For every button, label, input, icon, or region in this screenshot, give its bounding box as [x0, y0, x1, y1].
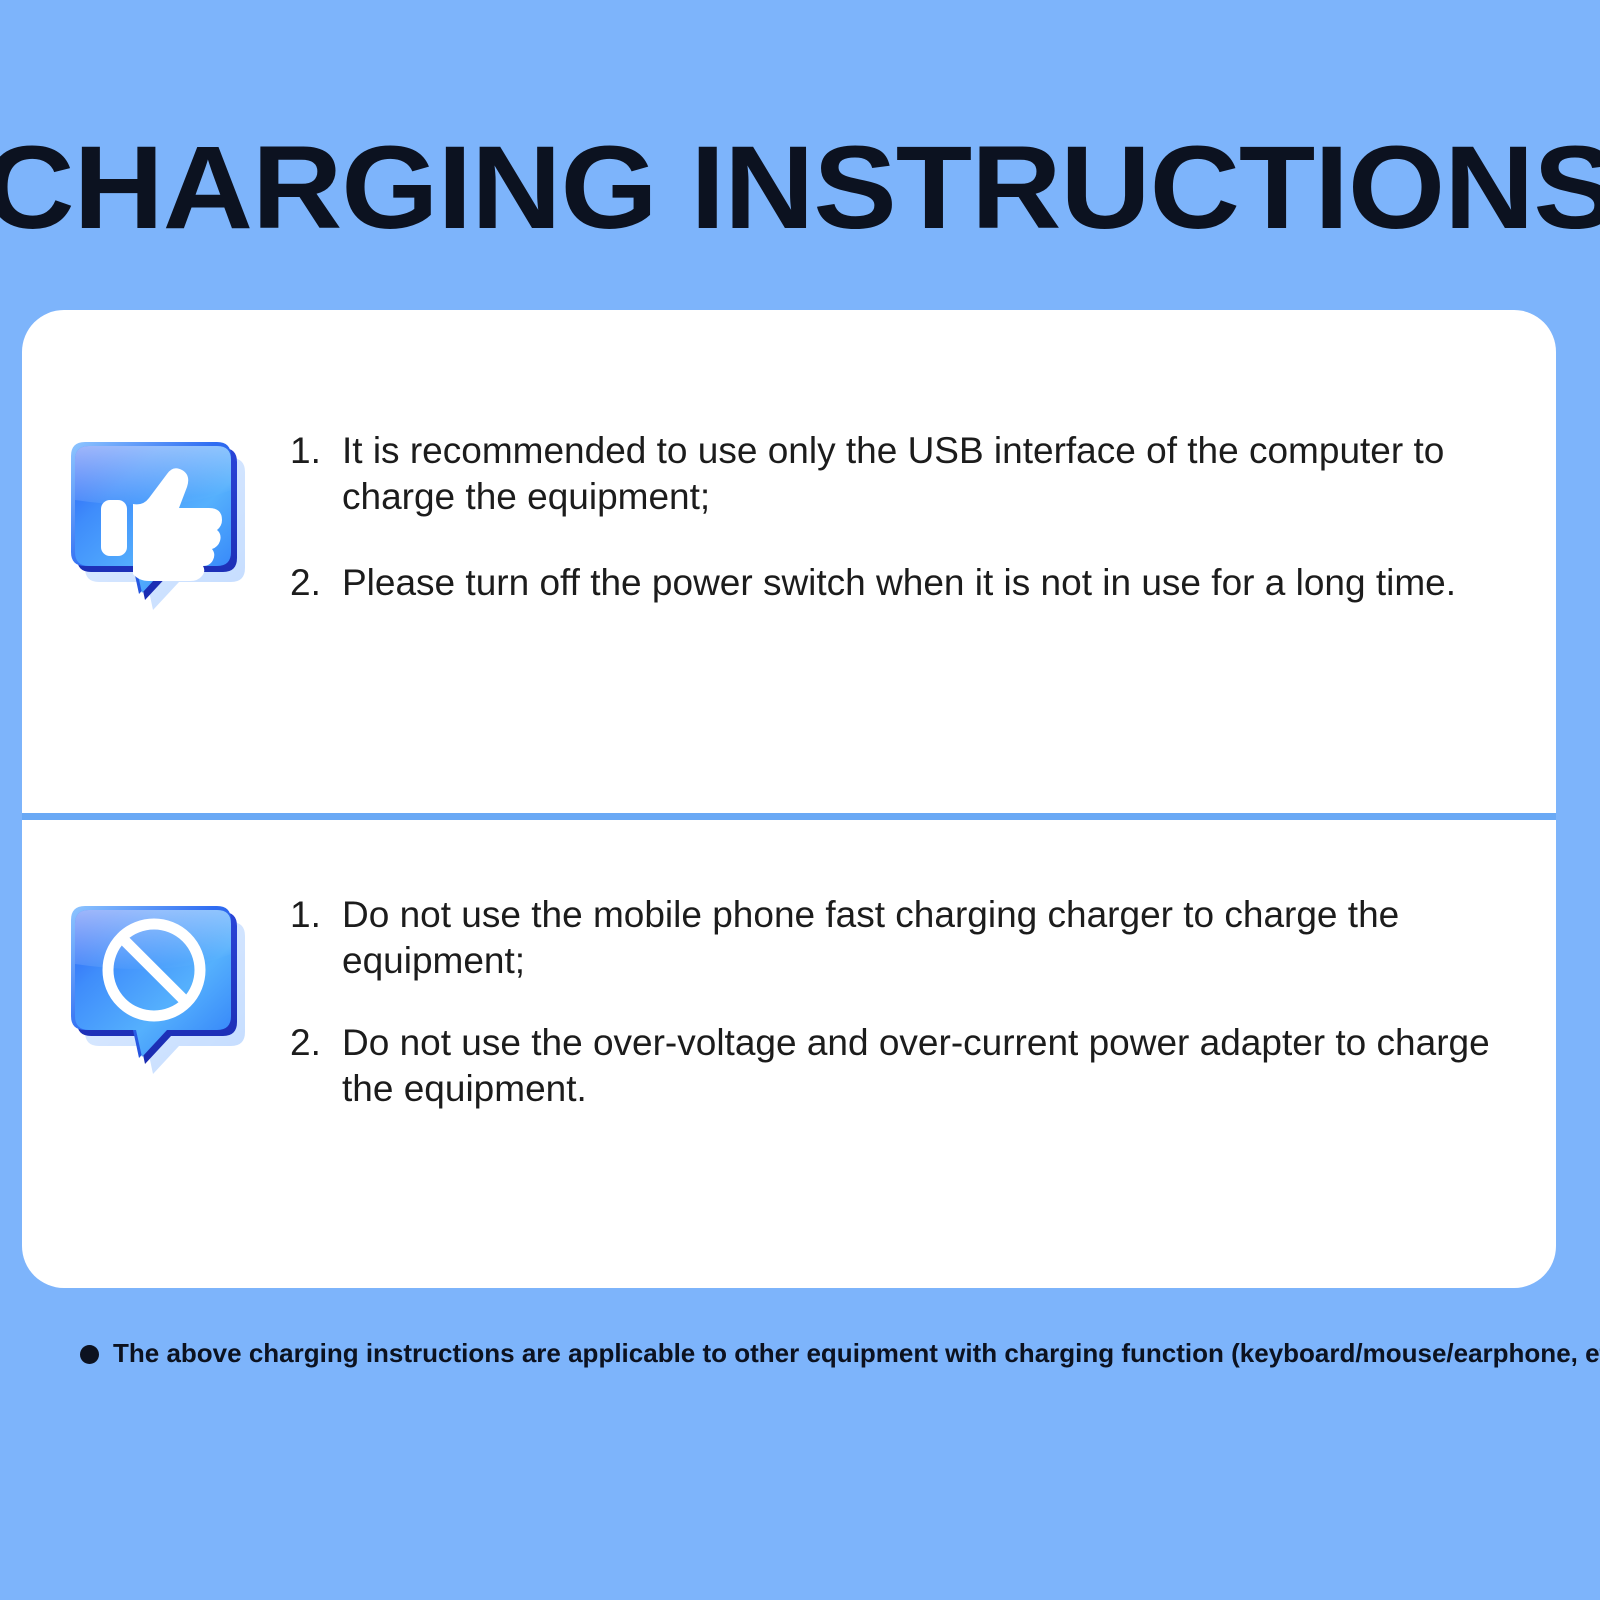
list-marker: 1.: [290, 892, 334, 938]
list-text: Do not use the over-voltage and over-cur…: [342, 1020, 1526, 1112]
instructions-card: 1. It is recommended to use only the USB…: [22, 310, 1556, 1288]
list-text: Please turn off the power switch when it…: [342, 560, 1526, 606]
thumbs-up-icon: [51, 428, 261, 638]
list-item: 2. Please turn off the power switch when…: [290, 560, 1526, 606]
panel-recommended-icon-col: [22, 428, 290, 638]
panel-divider: [22, 813, 1556, 820]
list-text: Do not use the mobile phone fast chargin…: [342, 892, 1526, 984]
list-marker: 2.: [290, 560, 334, 606]
page-title: CHARGING INSTRUCTIONS: [0, 128, 1600, 248]
footnote: The above charging instructions are appl…: [80, 1336, 1540, 1370]
panel-prohibited-icon-col: [22, 892, 290, 1102]
list-marker: 2.: [290, 1020, 334, 1066]
recommended-list: 1. It is recommended to use only the USB…: [290, 428, 1526, 606]
prohibited-list: 1. Do not use the mobile phone fast char…: [290, 892, 1526, 1112]
list-item: 1. Do not use the mobile phone fast char…: [290, 892, 1526, 984]
panel-prohibited-text: 1. Do not use the mobile phone fast char…: [290, 892, 1556, 1148]
list-text: It is recommended to use only the USB in…: [342, 428, 1526, 520]
panel-recommended-text: 1. It is recommended to use only the USB…: [290, 428, 1556, 606]
panel-prohibited: 1. Do not use the mobile phone fast char…: [22, 820, 1556, 1288]
footnote-text: The above charging instructions are appl…: [113, 1336, 1600, 1370]
prohibition-icon: [51, 892, 261, 1102]
panel-recommended: 1. It is recommended to use only the USB…: [22, 310, 1556, 813]
list-marker: 1.: [290, 428, 334, 474]
instruction-sheet: CHARGING INSTRUCTIONS: [0, 0, 1600, 1600]
bullet-icon: [80, 1345, 99, 1364]
list-item: 2. Do not use the over-voltage and over-…: [290, 1020, 1526, 1112]
list-item: 1. It is recommended to use only the USB…: [290, 428, 1526, 520]
